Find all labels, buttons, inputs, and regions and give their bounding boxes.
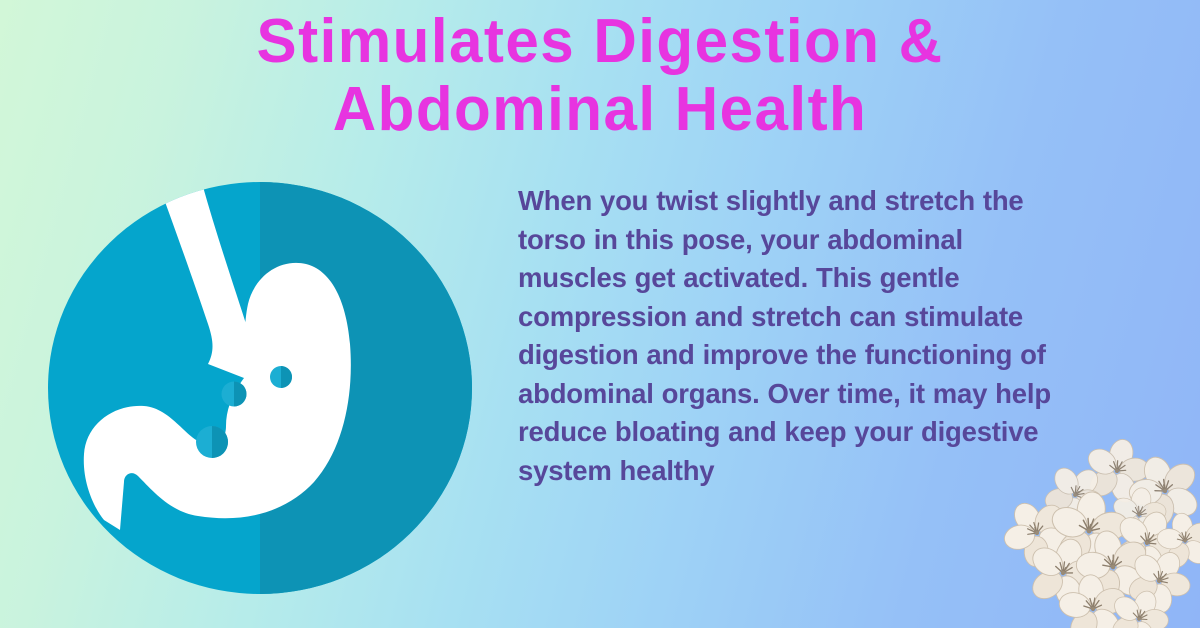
stomach-icon: [48, 182, 472, 594]
title-line-1: Stimulates Digestion &: [18, 8, 1182, 76]
title-line-2: Abdominal Health: [18, 76, 1182, 144]
bubble-small: [270, 366, 292, 388]
body-paragraph: When you twist slightly and stretch the …: [518, 182, 1063, 490]
infographic-poster: Stimulates Digestion & Abdominal Health: [0, 0, 1200, 628]
bubble-medium: [222, 382, 247, 407]
page-title: Stimulates Digestion & Abdominal Health: [0, 8, 1200, 144]
bubble-large: [196, 426, 228, 458]
